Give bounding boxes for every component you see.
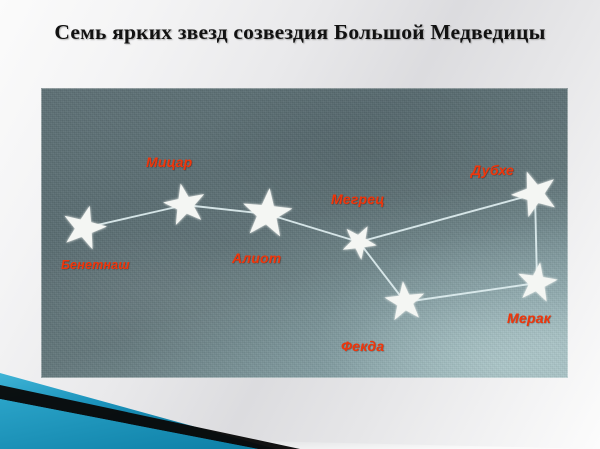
deco-teal-wedge-upper [0,373,276,449]
constellation-diagram [41,88,568,378]
deco-teal-wedge-lower [0,399,258,449]
constellation-photo: БенетнашМицарАлиотМегрецДубхеМеракФекда [41,88,568,378]
star-label-phecda: Фекда [341,338,384,354]
constellation-lines [84,194,537,302]
star-label-dubhe: Дубхе [471,162,514,178]
star-label-megrez: Мегрец [331,191,385,207]
star-benetnash [65,206,107,250]
star-label-benetnash: Бенетнаш [61,258,130,272]
constellation-line [359,242,405,302]
star-megrez [343,226,377,260]
page-title: Семь ярких звезд созвездия Большой Медве… [52,18,548,47]
title-block: Семь ярких звезд созвездия Большой Медве… [52,18,548,47]
deco-black-stripe [0,385,300,449]
deco-grey-wedge [0,435,600,449]
presentation-slide: Семь ярких звезд созвездия Большой Медве… [0,0,600,449]
constellation-line [267,214,359,242]
star-merak [518,262,558,301]
star-label-merak: Мерак [507,310,551,326]
star-label-mizar: Мицар [146,154,192,170]
star-dubhe [511,171,555,217]
constellation-line [359,194,535,242]
constellation-line [405,283,537,302]
star-mizar [163,183,204,225]
star-label-alioth: Алиот [232,250,281,266]
constellation-stars [65,171,558,320]
